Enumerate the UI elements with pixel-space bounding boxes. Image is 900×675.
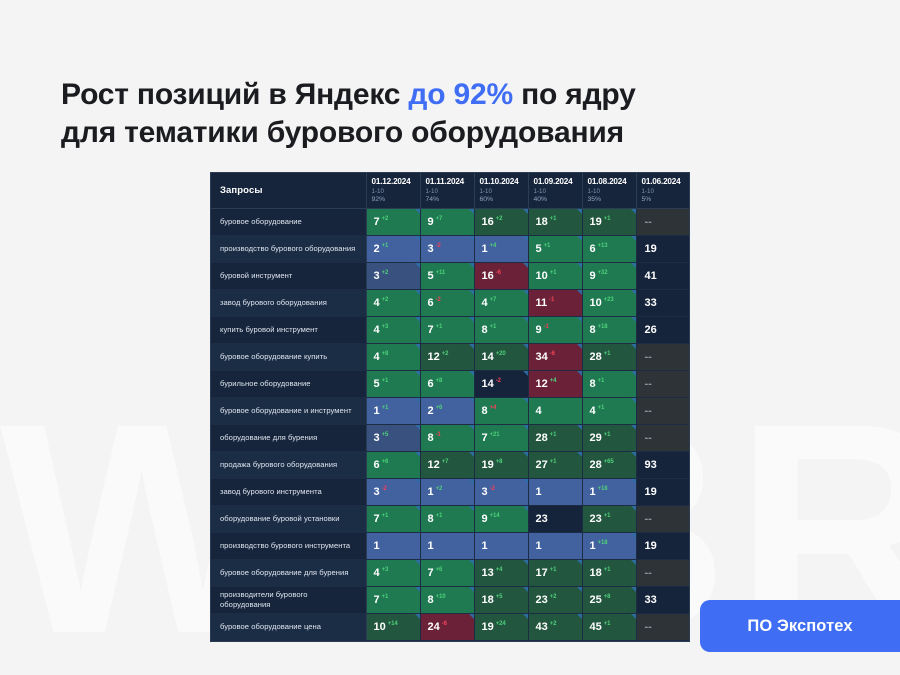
rank-cell: 23 xyxy=(528,505,582,532)
rank-cell: 5+1 xyxy=(528,235,582,262)
rank-cell-baseline: 19 xyxy=(636,235,689,262)
rank-value: 3 xyxy=(374,486,380,498)
rank-delta: +2 xyxy=(382,270,389,276)
row-query-label: буровое оборудование купить xyxy=(211,343,366,370)
rank-delta: +2 xyxy=(382,216,389,222)
table-row: завод бурового инструмента3-21+23-211+18… xyxy=(211,478,689,505)
table-row: буровое оборудование и инструмент1+12+68… xyxy=(211,397,689,424)
column-date-label: 01.12.2024 xyxy=(372,177,415,186)
rank-cell: 28+1 xyxy=(582,343,636,370)
rank-value: 1 xyxy=(536,486,542,498)
rank-value: 3 xyxy=(374,432,380,444)
table-head: Запросы 01.12.20241-1092%01.11.20241-107… xyxy=(211,173,689,208)
rank-cell: 4+2 xyxy=(366,289,420,316)
rank-value: 7 xyxy=(428,567,434,579)
rank-delta: +2 xyxy=(550,621,557,627)
column-date-label: 01.08.2024 xyxy=(588,177,631,186)
rank-delta: +3 xyxy=(382,567,389,573)
rank-value: 19 xyxy=(482,459,494,471)
rank-cell-baseline: 33 xyxy=(636,586,689,613)
rank-value: 18 xyxy=(482,594,494,606)
rank-cell: 25+8 xyxy=(582,586,636,613)
rank-value: 23 xyxy=(536,513,548,525)
rank-cell: 19+1 xyxy=(582,208,636,235)
rank-delta: +1 xyxy=(436,513,443,519)
rank-cell: 3-2 xyxy=(474,478,528,505)
rank-value: 12 xyxy=(536,378,548,390)
rank-cell-baseline: 93 xyxy=(636,451,689,478)
rank-delta: -6 xyxy=(496,270,501,276)
row-query-label: буровое оборудование xyxy=(211,208,366,235)
row-query-label: производство бурового инструмента xyxy=(211,532,366,559)
rank-cell-baseline: -- xyxy=(636,424,689,451)
rank-cell-baseline: 41 xyxy=(636,262,689,289)
rank-value: 9 xyxy=(428,216,434,228)
rank-cell: 7+1 xyxy=(366,586,420,613)
rank-delta: -1 xyxy=(436,432,441,438)
rank-delta: +3 xyxy=(382,324,389,330)
rank-value: 4 xyxy=(536,405,542,417)
row-query-label: буровое оборудование и инструмент xyxy=(211,397,366,424)
rank-cell-baseline: -- xyxy=(636,370,689,397)
rank-value: 9 xyxy=(590,270,596,282)
cta-button-po-expotech[interactable]: ПО Экспотех xyxy=(700,600,900,652)
rank-value: 5 xyxy=(374,378,380,390)
rank-cell-baseline: -- xyxy=(636,613,689,640)
rank-delta: +1 xyxy=(382,405,389,411)
rank-value: 25 xyxy=(590,594,602,606)
rank-delta: +1 xyxy=(382,594,389,600)
rank-value: 8 xyxy=(428,594,434,606)
rank-cell-baseline: 26 xyxy=(636,316,689,343)
column-header-date-4: 01.08.20241-1035% xyxy=(582,173,636,208)
table-row: оборудование для бурения3+58-17+2128+129… xyxy=(211,424,689,451)
rank-value: 28 xyxy=(590,459,602,471)
rank-value: 24 xyxy=(428,621,440,633)
column-header-date-5: 01.06.20241-105% xyxy=(636,173,689,208)
rank-cell-baseline: -- xyxy=(636,505,689,532)
rank-value: 27 xyxy=(536,459,548,471)
rank-delta: +6 xyxy=(436,567,443,573)
rank-value: 12 xyxy=(428,459,440,471)
rank-delta: +1 xyxy=(544,243,551,249)
rank-delta: +7 xyxy=(490,297,497,303)
rank-value: 8 xyxy=(428,432,434,444)
rank-cell: 1 xyxy=(474,532,528,559)
rank-delta: +6 xyxy=(436,405,443,411)
rank-delta: +5 xyxy=(496,594,503,600)
rank-cell: 5+11 xyxy=(420,262,474,289)
rank-delta: -2 xyxy=(490,486,495,492)
rank-cell: 8+1 xyxy=(582,370,636,397)
rank-cell: 19+24 xyxy=(474,613,528,640)
rank-value: 13 xyxy=(482,567,494,579)
table-row: завод бурового оборудования4+26-24+711-1… xyxy=(211,289,689,316)
rank-delta: +1 xyxy=(550,216,557,222)
rank-cell: 4+1 xyxy=(582,397,636,424)
rank-value: 18 xyxy=(536,216,548,228)
table-row: оборудование буровой установки7+18+19+14… xyxy=(211,505,689,532)
rank-cell: 7+1 xyxy=(420,316,474,343)
rank-value: 28 xyxy=(590,351,602,363)
rank-cell: 1+18 xyxy=(582,532,636,559)
row-query-label: производство бурового оборудования xyxy=(211,235,366,262)
rank-value: 4 xyxy=(374,324,380,336)
row-query-label: продажа бурового оборудования xyxy=(211,451,366,478)
rank-value: 8 xyxy=(590,324,596,336)
column-header-date-3: 01.09.20241-1040% xyxy=(528,173,582,208)
rank-cell: 12+2 xyxy=(420,343,474,370)
rank-delta: +1 xyxy=(550,567,557,573)
rank-delta: +1 xyxy=(550,270,557,276)
rank-cell: 29+1 xyxy=(582,424,636,451)
column-header-date-2: 01.10.20241-1060% xyxy=(474,173,528,208)
rank-cell: 1 xyxy=(528,532,582,559)
column-percent-label: 92% xyxy=(372,196,415,205)
rank-cell: 4+7 xyxy=(474,289,528,316)
rank-cell: 17+1 xyxy=(528,559,582,586)
row-query-label: завод бурового оборудования xyxy=(211,289,366,316)
rank-cell-baseline: -- xyxy=(636,208,689,235)
rank-cell: 2+6 xyxy=(420,397,474,424)
rank-cell: 7+21 xyxy=(474,424,528,451)
rank-value: 1 xyxy=(482,243,488,255)
rank-cell: 8+18 xyxy=(582,316,636,343)
rank-delta: -6 xyxy=(442,621,447,627)
rank-delta: +18 xyxy=(598,540,608,546)
rank-cell: 9+14 xyxy=(474,505,528,532)
table-row: производство бурового оборудования2+13-2… xyxy=(211,235,689,262)
rank-cell: 28+1 xyxy=(528,424,582,451)
rank-cell: 10+1 xyxy=(528,262,582,289)
title-part-2: по ядру xyxy=(513,78,636,111)
rank-delta: +1 xyxy=(550,432,557,438)
row-query-label: буровое оборудование цена xyxy=(211,613,366,640)
rank-cell: 24-6 xyxy=(420,613,474,640)
rank-delta: +1 xyxy=(604,567,611,573)
rank-delta: +4 xyxy=(496,567,503,573)
rank-delta: +1 xyxy=(490,324,497,330)
rank-value: 17 xyxy=(536,567,548,579)
rank-value: 4 xyxy=(590,405,596,417)
rank-delta: +8 xyxy=(496,459,503,465)
table-row: купить буровой инструмент4+37+18+19-18+1… xyxy=(211,316,689,343)
rank-delta: +14 xyxy=(490,513,500,519)
rank-value: 2 xyxy=(374,243,380,255)
rank-value: 1 xyxy=(536,540,542,552)
rank-value: 9 xyxy=(536,324,542,336)
rank-cell: 8+1 xyxy=(420,505,474,532)
column-percent-label: 74% xyxy=(426,196,469,205)
rank-cell: 14+20 xyxy=(474,343,528,370)
column-date-label: 01.10.2024 xyxy=(480,177,523,186)
rank-cell: 4 xyxy=(528,397,582,424)
rank-cell: 10+14 xyxy=(366,613,420,640)
row-query-label: бурильное оборудование xyxy=(211,370,366,397)
rank-value: 28 xyxy=(536,432,548,444)
column-range-label: 1-10 xyxy=(480,188,523,196)
rank-delta: +10 xyxy=(436,594,446,600)
rank-value: 9 xyxy=(482,513,488,525)
rank-delta: +1 xyxy=(604,513,611,519)
rank-delta: +4 xyxy=(550,378,557,384)
column-percent-label: 5% xyxy=(642,196,684,205)
rank-cell: 6+8 xyxy=(420,370,474,397)
rank-value: 19 xyxy=(482,621,494,633)
rank-delta: +24 xyxy=(496,621,506,627)
rank-cell: 4+3 xyxy=(366,316,420,343)
rank-delta: +6 xyxy=(382,459,389,465)
rank-value: 11 xyxy=(536,297,548,309)
rank-delta: +1 xyxy=(604,621,611,627)
column-percent-label: 60% xyxy=(480,196,523,205)
rank-delta: +2 xyxy=(442,351,449,357)
rank-delta: -1 xyxy=(549,297,554,303)
rank-delta: -2 xyxy=(496,378,501,384)
rank-cell-baseline: 19 xyxy=(636,532,689,559)
rank-cell-baseline: -- xyxy=(636,397,689,424)
column-header-date-1: 01.11.20241-1074% xyxy=(420,173,474,208)
rank-cell: 34-6 xyxy=(528,343,582,370)
rank-value: 14 xyxy=(482,351,494,363)
rank-cell: 4+3 xyxy=(366,559,420,586)
rank-value: 3 xyxy=(482,486,488,498)
rank-cell: 9+7 xyxy=(420,208,474,235)
rank-delta: -2 xyxy=(382,486,387,492)
rank-cell: 14-2 xyxy=(474,370,528,397)
rank-value: 8 xyxy=(590,378,596,390)
rank-cell: 2+1 xyxy=(366,235,420,262)
rank-cell: 9+32 xyxy=(582,262,636,289)
table-body: буровое оборудование7+29+716+218+119+1--… xyxy=(211,208,689,640)
rank-value: 7 xyxy=(374,594,380,606)
rank-cell-baseline: 33 xyxy=(636,289,689,316)
rank-cell: 1 xyxy=(366,532,420,559)
rank-value: 2 xyxy=(428,405,434,417)
rank-delta: +18 xyxy=(598,486,608,492)
rank-cell: 8+1 xyxy=(474,316,528,343)
rank-delta: +1 xyxy=(436,324,443,330)
rank-cell: 16+2 xyxy=(474,208,528,235)
rank-cell: 19+8 xyxy=(474,451,528,478)
rank-value: 4 xyxy=(374,567,380,579)
rank-delta: +1 xyxy=(604,216,611,222)
table-row: буровое оборудование купить4+812+214+203… xyxy=(211,343,689,370)
rank-delta: +1 xyxy=(598,378,605,384)
rank-cell: 1 xyxy=(528,478,582,505)
rankings-table: Запросы 01.12.20241-1092%01.11.20241-107… xyxy=(211,173,690,641)
rank-cell: 3-2 xyxy=(366,478,420,505)
table-row: производство бурового инструмента11111+1… xyxy=(211,532,689,559)
column-header-queries: Запросы xyxy=(211,173,366,208)
rank-cell: 43+2 xyxy=(528,613,582,640)
rank-delta: +1 xyxy=(382,243,389,249)
table-row: продажа бурового оборудования6+612+719+8… xyxy=(211,451,689,478)
rank-delta: +1 xyxy=(550,459,557,465)
rank-delta: -2 xyxy=(436,243,441,249)
rank-delta: +7 xyxy=(436,216,443,222)
rank-value: 7 xyxy=(374,216,380,228)
rank-value: 6 xyxy=(374,459,380,471)
rank-value: 19 xyxy=(590,216,602,228)
table-row: бурильное оборудование5+16+814-212+48+1-… xyxy=(211,370,689,397)
rankings-table-container: Запросы 01.12.20241-1092%01.11.20241-107… xyxy=(210,172,690,642)
row-query-label: завод бурового инструмента xyxy=(211,478,366,505)
rank-cell-baseline: 19 xyxy=(636,478,689,505)
row-query-label: буровой инструмент xyxy=(211,262,366,289)
rank-delta: +7 xyxy=(442,459,449,465)
rank-value: 10 xyxy=(374,621,386,633)
rank-delta: +4 xyxy=(490,243,497,249)
rank-value: 1 xyxy=(590,540,596,552)
row-query-label: оборудование для бурения xyxy=(211,424,366,451)
title-accent: до 92% xyxy=(408,78,513,111)
rank-cell: 1+4 xyxy=(474,235,528,262)
rank-cell: 1 xyxy=(420,532,474,559)
rank-value: 1 xyxy=(374,405,380,417)
rank-value: 4 xyxy=(374,297,380,309)
rank-value: 18 xyxy=(590,567,602,579)
column-header-date-0: 01.12.20241-1092% xyxy=(366,173,420,208)
rank-value: 6 xyxy=(428,378,434,390)
rank-delta: +1 xyxy=(604,432,611,438)
rank-delta: +20 xyxy=(496,351,506,357)
rank-value: 29 xyxy=(590,432,602,444)
rank-value: 3 xyxy=(428,243,434,255)
column-percent-label: 40% xyxy=(534,196,577,205)
rank-cell: 10+23 xyxy=(582,289,636,316)
rank-delta: +21 xyxy=(490,432,500,438)
rank-value: 1 xyxy=(482,540,488,552)
row-query-label: купить буровой инструмент xyxy=(211,316,366,343)
rank-value: 8 xyxy=(482,324,488,336)
rank-value: 1 xyxy=(590,486,596,498)
rank-delta: +8 xyxy=(436,378,443,384)
rank-delta: +23 xyxy=(604,297,614,303)
row-query-label: оборудование буровой установки xyxy=(211,505,366,532)
rank-cell: 1+18 xyxy=(582,478,636,505)
table-row: производители бурового оборудования7+18+… xyxy=(211,586,689,613)
row-query-label: производители бурового оборудования xyxy=(211,586,366,613)
title-line-2: для тематики бурового оборудования xyxy=(61,116,624,149)
rank-value: 12 xyxy=(428,351,440,363)
rank-value: 23 xyxy=(536,594,548,606)
rank-value: 7 xyxy=(482,432,488,444)
rank-cell: 28+65 xyxy=(582,451,636,478)
rank-cell: 13+4 xyxy=(474,559,528,586)
rank-cell: 27+1 xyxy=(528,451,582,478)
rank-delta: -2 xyxy=(436,297,441,303)
rank-delta: +32 xyxy=(598,270,608,276)
table-row: буровое оборудование цена10+1424-619+244… xyxy=(211,613,689,640)
rank-cell: 23+1 xyxy=(582,505,636,532)
column-date-label: 01.11.2024 xyxy=(426,177,469,186)
rank-cell: 18+1 xyxy=(582,559,636,586)
rank-value: 14 xyxy=(482,378,494,390)
rank-value: 1 xyxy=(428,540,434,552)
rank-value: 5 xyxy=(428,270,434,282)
rank-cell: 3+2 xyxy=(366,262,420,289)
rank-cell: 12+4 xyxy=(528,370,582,397)
rank-cell: 1+1 xyxy=(366,397,420,424)
rank-value: 4 xyxy=(482,297,488,309)
rank-value: 1 xyxy=(374,540,380,552)
rank-value: 4 xyxy=(374,351,380,363)
rank-delta: +11 xyxy=(436,270,446,276)
rank-value: 5 xyxy=(536,243,542,255)
rank-value: 6 xyxy=(428,297,434,309)
rank-cell: 4+8 xyxy=(366,343,420,370)
rank-value: 8 xyxy=(428,513,434,525)
rank-delta: +1 xyxy=(382,513,389,519)
rank-cell-baseline: -- xyxy=(636,559,689,586)
rank-delta: -1 xyxy=(544,324,549,330)
rank-delta: +8 xyxy=(604,594,611,600)
rank-cell: 7+1 xyxy=(366,505,420,532)
rank-value: 10 xyxy=(536,270,548,282)
rank-value: 7 xyxy=(374,513,380,525)
rank-cell: 12+7 xyxy=(420,451,474,478)
rank-delta: +2 xyxy=(382,297,389,303)
rank-cell: 3+5 xyxy=(366,424,420,451)
rank-delta: +4 xyxy=(490,405,497,411)
rank-value: 23 xyxy=(590,513,602,525)
column-range-label: 1-10 xyxy=(588,188,631,196)
rank-cell: 11-1 xyxy=(528,289,582,316)
rank-cell: 18+5 xyxy=(474,586,528,613)
rank-delta: +2 xyxy=(436,486,443,492)
table-header-row: Запросы 01.12.20241-1092%01.11.20241-107… xyxy=(211,173,689,208)
rank-cell: 8+4 xyxy=(474,397,528,424)
rank-delta: +5 xyxy=(382,432,389,438)
column-percent-label: 35% xyxy=(588,196,631,205)
column-date-label: 01.06.2024 xyxy=(642,177,684,186)
table-row: буровой инструмент3+25+1116-610+19+3241 xyxy=(211,262,689,289)
row-query-label: буровое оборудование для бурения xyxy=(211,559,366,586)
rank-value: 10 xyxy=(590,297,602,309)
title-part-1: Рост позиций в Яндекс xyxy=(61,78,408,111)
rank-cell: 7+2 xyxy=(366,208,420,235)
rank-delta: -6 xyxy=(550,351,555,357)
rank-cell: 6+13 xyxy=(582,235,636,262)
rank-value: 6 xyxy=(590,243,596,255)
rank-cell: 7+6 xyxy=(420,559,474,586)
column-range-label: 1-10 xyxy=(534,188,577,196)
rank-delta: +13 xyxy=(598,243,608,249)
column-range-label: 1-10 xyxy=(426,188,469,196)
rank-value: 45 xyxy=(590,621,602,633)
rank-cell: 18+1 xyxy=(528,208,582,235)
rank-value: 16 xyxy=(482,216,494,228)
rank-cell: 1+2 xyxy=(420,478,474,505)
rank-value: 3 xyxy=(374,270,380,282)
rank-cell: 5+1 xyxy=(366,370,420,397)
rank-cell: 6+6 xyxy=(366,451,420,478)
rank-delta: +2 xyxy=(496,216,503,222)
rank-value: 1 xyxy=(428,486,434,498)
rank-delta: +8 xyxy=(382,351,389,357)
rank-value: 16 xyxy=(482,270,494,282)
rank-value: 34 xyxy=(536,351,548,363)
rank-delta: +1 xyxy=(598,405,605,411)
rank-cell-baseline: -- xyxy=(636,343,689,370)
column-date-label: 01.09.2024 xyxy=(534,177,577,186)
rank-value: 43 xyxy=(536,621,548,633)
rank-delta: +1 xyxy=(382,378,389,384)
rank-delta: +18 xyxy=(598,324,608,330)
rank-cell: 3-2 xyxy=(420,235,474,262)
rank-delta: +65 xyxy=(604,459,614,465)
